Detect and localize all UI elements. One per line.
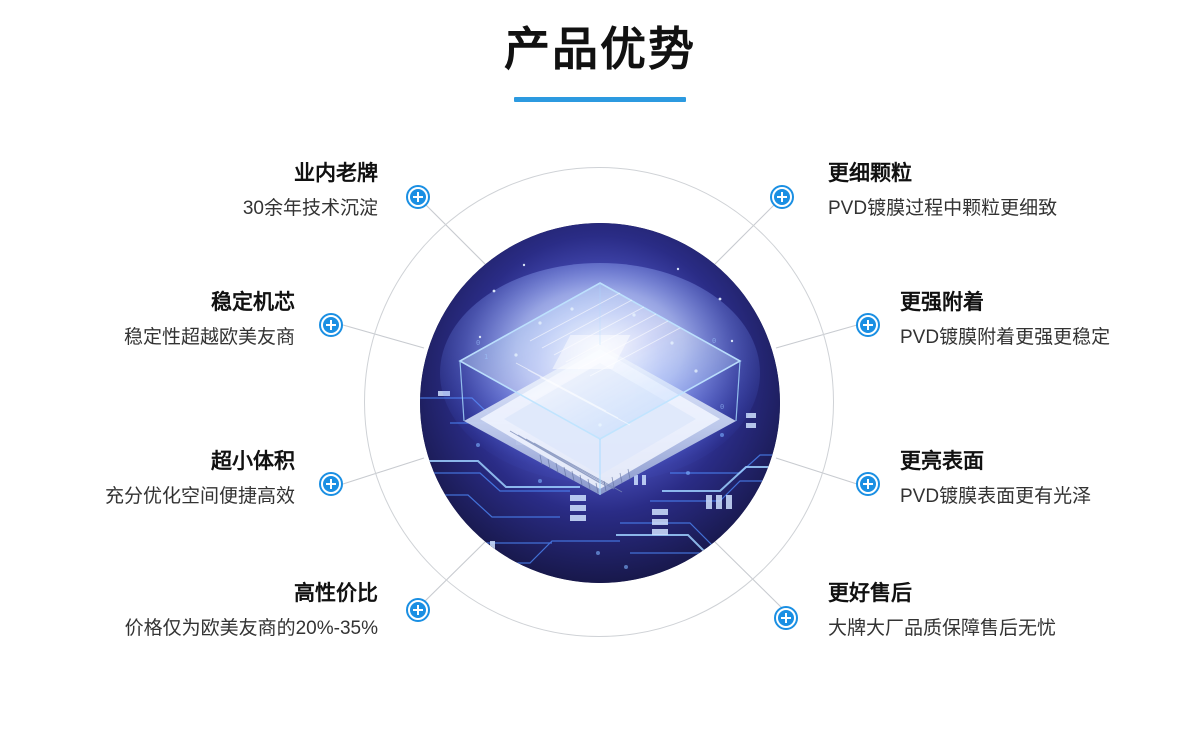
advantages-diagram: 01 00 业内老牌 30余年技术沉淀 稳定机芯 稳定性超越欧美友商 超小体积 … — [0, 0, 1200, 750]
feature-title: 更细颗粒 — [828, 160, 1158, 188]
feature-description: 大牌大厂品质保障售后无忧 — [828, 615, 1158, 643]
plus-glyph — [410, 189, 426, 205]
plus-glyph — [860, 317, 876, 333]
feature-title: 更好售后 — [828, 580, 1158, 608]
plus-circle-icon-left-2[interactable] — [319, 313, 343, 337]
plus-circle-icon-right-4[interactable] — [774, 606, 798, 630]
feature-right-2[interactable]: 更强附着 PVD镀膜附着更强更稳定 — [900, 289, 1200, 352]
feature-right-1[interactable]: 更细颗粒 PVD镀膜过程中颗粒更细致 — [828, 160, 1158, 223]
plus-circle-icon-left-1[interactable] — [406, 185, 430, 209]
feature-description: PVD镀膜表面更有光泽 — [900, 483, 1200, 511]
feature-description: 充分优化空间便捷高效 — [0, 483, 295, 511]
plus-circle-icon-right-2[interactable] — [856, 313, 880, 337]
feature-description: 稳定性超越欧美友商 — [0, 324, 295, 352]
plus-circle-icon-left-3[interactable] — [319, 472, 343, 496]
svg-text:1: 1 — [484, 353, 488, 361]
plus-glyph — [860, 476, 876, 492]
plus-glyph — [323, 476, 339, 492]
plus-glyph — [778, 610, 794, 626]
feature-title: 更强附着 — [900, 289, 1200, 317]
feature-title: 高性价比 — [48, 580, 378, 608]
feature-title: 超小体积 — [0, 448, 295, 476]
feature-title: 更亮表面 — [900, 448, 1200, 476]
plus-glyph — [410, 602, 426, 618]
svg-text:0: 0 — [720, 403, 724, 411]
feature-description: PVD镀膜附着更强更稳定 — [900, 324, 1200, 352]
center-hero-image: 01 00 — [420, 223, 780, 583]
plus-glyph — [774, 189, 790, 205]
plus-circle-icon-left-4[interactable] — [406, 598, 430, 622]
svg-text:0: 0 — [476, 339, 480, 347]
plus-circle-icon-right-1[interactable] — [770, 185, 794, 209]
plus-circle-icon-right-3[interactable] — [856, 472, 880, 496]
feature-title: 业内老牌 — [48, 160, 378, 188]
feature-description: 价格仅为欧美友商的20%-35% — [48, 615, 378, 643]
feature-right-3[interactable]: 更亮表面 PVD镀膜表面更有光泽 — [900, 448, 1200, 511]
feature-description: PVD镀膜过程中颗粒更细致 — [828, 195, 1158, 223]
feature-description: 30余年技术沉淀 — [48, 195, 378, 223]
feature-left-2[interactable]: 稳定机芯 稳定性超越欧美友商 — [0, 289, 295, 352]
feature-left-3[interactable]: 超小体积 充分优化空间便捷高效 — [0, 448, 295, 511]
feature-title: 稳定机芯 — [0, 289, 295, 317]
feature-left-1[interactable]: 业内老牌 30余年技术沉淀 — [48, 160, 378, 223]
svg-text:0: 0 — [712, 337, 716, 345]
plus-glyph — [323, 317, 339, 333]
feature-left-4[interactable]: 高性价比 价格仅为欧美友商的20%-35% — [48, 580, 378, 643]
feature-right-4[interactable]: 更好售后 大牌大厂品质保障售后无忧 — [828, 580, 1158, 643]
